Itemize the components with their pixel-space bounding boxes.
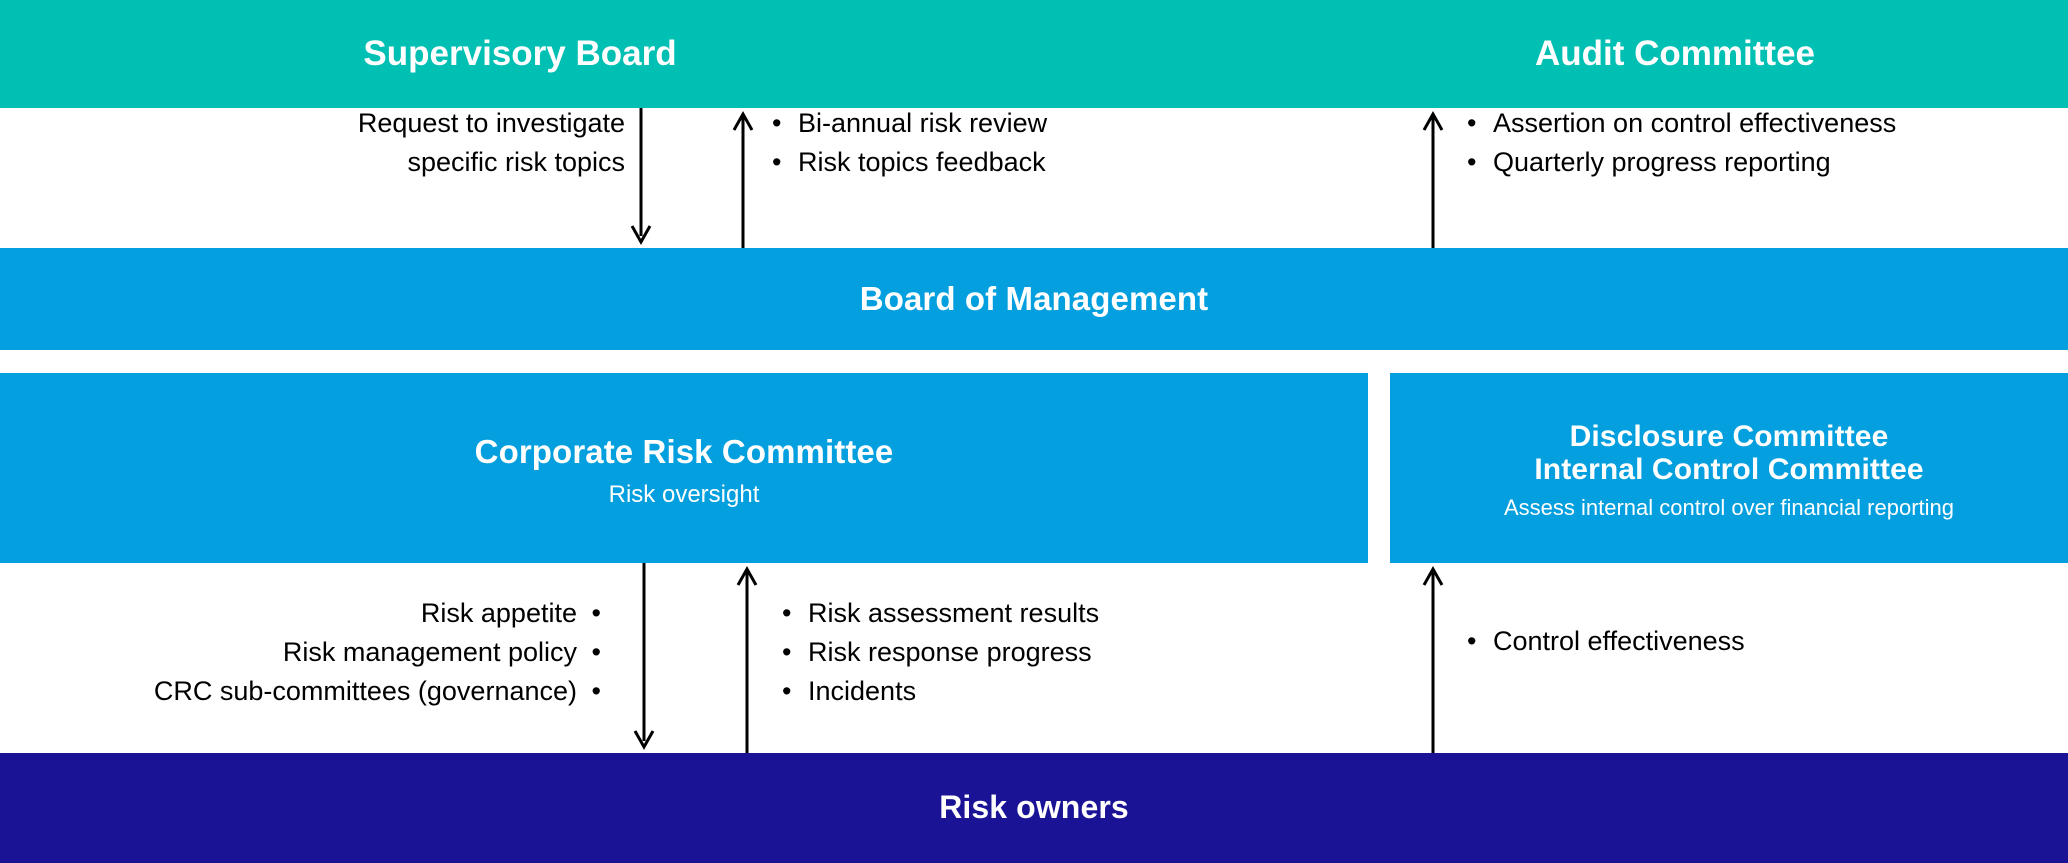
- arrow-risk-owners-to-crc-up: [734, 563, 760, 753]
- list-item: Assertion on control effectiveness: [1465, 104, 1896, 143]
- risk-governance-diagram: Supervisory Board Audit Committee Reques…: [0, 0, 2068, 863]
- note-request-to-investigate: Request to investigate specific risk top…: [30, 104, 625, 182]
- disclosure-committee-label-line1: Disclosure Committee: [1570, 420, 1889, 454]
- list-item: Control effectiveness: [1465, 622, 1745, 661]
- supervisory-board-box: Supervisory Board: [285, 0, 755, 108]
- audit-committee-label: Audit Committee: [1535, 34, 1815, 74]
- note-crc-downward: Risk appetite Risk management policy CRC…: [30, 594, 605, 711]
- risk-owners-label: Risk owners: [939, 790, 1129, 826]
- list-item: CRC sub-committees (governance): [30, 672, 605, 711]
- list-item: Risk topics feedback: [770, 143, 1047, 182]
- board-of-management-label: Board of Management: [860, 281, 1208, 318]
- list-item: Bi-annual risk review: [770, 104, 1047, 143]
- note-request-line1: Request to investigate: [30, 104, 625, 143]
- arrow-risk-owners-to-disclosure-up: [1420, 563, 1446, 753]
- disclosure-committee-label-line2: Internal Control Committee: [1534, 453, 1923, 487]
- risk-owners-box: Risk owners: [0, 753, 2068, 863]
- arrow-board-to-supervisory-up: [730, 108, 756, 248]
- corporate-risk-committee-box: Corporate Risk Committee Risk oversight: [0, 373, 1368, 563]
- note-to-audit-committee: Assertion on control effectiveness Quart…: [1465, 104, 1896, 182]
- corporate-risk-committee-label: Corporate Risk Committee: [475, 434, 894, 471]
- note-request-line2: specific risk topics: [30, 143, 625, 182]
- note-crc-upward: Risk assessment results Risk response pr…: [780, 594, 1099, 711]
- corporate-risk-committee-subtitle: Risk oversight: [609, 481, 760, 509]
- audit-committee-box: Audit Committee: [1420, 0, 1930, 108]
- arrow-supervisory-to-board-down: [628, 108, 654, 248]
- list-item: Risk response progress: [780, 633, 1099, 672]
- list-item: Quarterly progress reporting: [1465, 143, 1896, 182]
- board-of-management-box: Board of Management: [0, 248, 2068, 350]
- disclosure-committee-subtitle: Assess internal control over financial r…: [1504, 495, 1954, 520]
- disclosure-committee-box: Disclosure Committee Internal Control Co…: [1390, 373, 2068, 563]
- list-item: Risk appetite: [30, 594, 605, 633]
- list-item: Risk management policy: [30, 633, 605, 672]
- list-item: Risk assessment results: [780, 594, 1099, 633]
- arrow-crc-to-risk-owners-down: [631, 563, 657, 753]
- arrow-board-to-audit-up: [1420, 108, 1446, 248]
- list-item: Incidents: [780, 672, 1099, 711]
- supervisory-board-label: Supervisory Board: [363, 34, 676, 74]
- note-control-effectiveness: Control effectiveness: [1465, 622, 1745, 661]
- note-to-supervisory-board: Bi-annual risk review Risk topics feedba…: [770, 104, 1047, 182]
- top-governance-bar: Supervisory Board Audit Committee: [0, 0, 2068, 108]
